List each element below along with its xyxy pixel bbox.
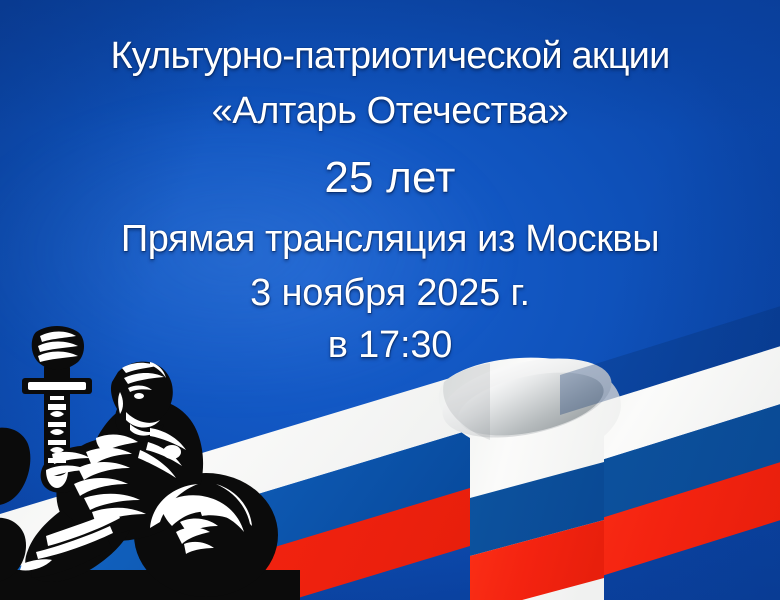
anniversary-text: 25 лет (0, 152, 780, 204)
headline-line-2: «Алтарь Отечества» (0, 88, 780, 134)
broadcast-time: в 17:30 (0, 322, 780, 368)
broadcast-date: 3 ноября 2025 г. (0, 270, 780, 316)
broadcast-line: Прямая трансляция из Москвы (0, 216, 780, 262)
poster-canvas: Культурно-патриотической акции «Алтарь О… (0, 0, 780, 600)
headline-line-1: Культурно-патриотической акции (0, 33, 780, 79)
